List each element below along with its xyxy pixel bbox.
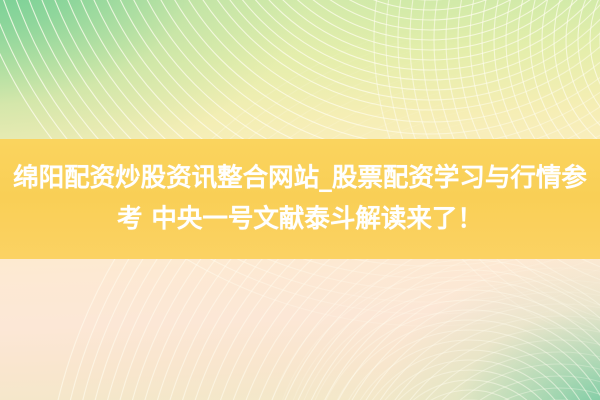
- banner-title-line-2: 考 中央一号文献泰斗解读来了！: [117, 199, 483, 240]
- title-banner-band: 绵阳配资炒股资讯整合网站_股票配资学习与行情参 考 中央一号文献泰斗解读来了！: [0, 139, 600, 259]
- banner-title-line-1: 绵阳配资炒股资讯整合网站_股票配资学习与行情参: [13, 158, 587, 199]
- banner-image: 绵阳配资炒股资讯整合网站_股票配资学习与行情参 考 中央一号文献泰斗解读来了！: [0, 0, 600, 400]
- banner-title: 绵阳配资炒股资讯整合网站_股票配资学习与行情参 考 中央一号文献泰斗解读来了！: [0, 139, 600, 259]
